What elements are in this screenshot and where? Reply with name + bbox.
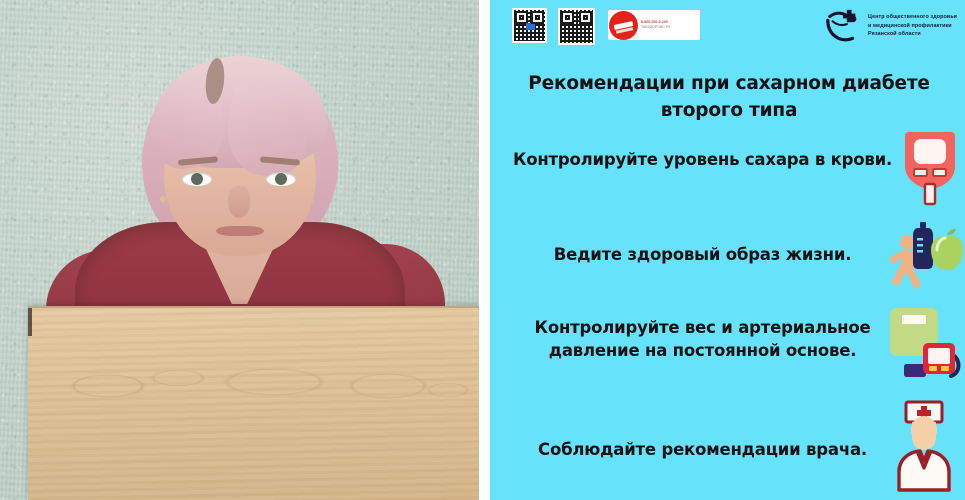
poster-header: 8-800-200-0-200 ТАКЗДОРОВО.РУ Центр обще… bbox=[490, 0, 965, 52]
nose bbox=[228, 186, 250, 218]
earring bbox=[160, 196, 166, 202]
title-line-2: второго типа bbox=[514, 97, 944, 124]
hotline-site: ТАКЗДОРОВО.РУ bbox=[641, 25, 670, 30]
hotline-badge[interactable]: 8-800-200-0-200 ТАКЗДОРОВО.РУ bbox=[608, 10, 700, 40]
mouth bbox=[216, 226, 264, 236]
doctor-icon bbox=[885, 398, 963, 494]
pupil-left bbox=[191, 173, 203, 185]
scale-and-blood-pressure-icon bbox=[887, 302, 963, 384]
wooden-board bbox=[28, 306, 479, 500]
page-title: Рекомендации при сахарном диабете второг… bbox=[514, 70, 944, 124]
pupil-right bbox=[275, 173, 287, 185]
healthy-lifestyle-icon bbox=[887, 212, 963, 292]
org-line-2: и медицинской профилактики bbox=[868, 22, 957, 31]
board-corner-shadow bbox=[28, 308, 32, 336]
health-center-logo-icon bbox=[824, 7, 862, 45]
diabetes-recommendations-poster: 8-800-200-0-200 ТАКЗДОРОВО.РУ Центр обще… bbox=[490, 0, 965, 500]
recommendation-4-text: Соблюдайте рекомендации врача. bbox=[510, 438, 895, 461]
screenshot-stage: 8-800-200-0-200 ТАКЗДОРОВО.РУ Центр обще… bbox=[0, 0, 965, 500]
qr-code-1[interactable] bbox=[512, 8, 547, 43]
title-line-1: Рекомендации при сахарном диабете bbox=[514, 70, 944, 97]
org-line-1: Центр общественного здоровья bbox=[868, 13, 957, 22]
recommendation-1-text: Контролируйте уровень сахара в крови. bbox=[510, 148, 895, 171]
qr-code-2[interactable] bbox=[558, 8, 595, 45]
stop-sign-icon bbox=[609, 11, 638, 40]
org-line-3: Рязанской области bbox=[868, 30, 957, 39]
medical-worker-photo bbox=[0, 0, 479, 500]
glucometer-icon bbox=[897, 128, 963, 206]
hotline-text: 8-800-200-0-200 ТАКЗДОРОВО.РУ bbox=[641, 20, 670, 29]
recommendation-2-text: Ведите здоровый образ жизни. bbox=[510, 243, 895, 266]
recommendation-3-line-1: Контролируйте вес и артериальное bbox=[510, 316, 895, 339]
recommendation-3-text: Контролируйте вес и артериальное давлени… bbox=[510, 316, 895, 363]
organization-logo: Центр общественного здоровья и медицинск… bbox=[824, 6, 957, 46]
recommendation-3-line-2: давление на постоянной основе. bbox=[510, 339, 895, 362]
wood-grain bbox=[28, 308, 479, 500]
organization-name: Центр общественного здоровья и медицинск… bbox=[868, 13, 957, 39]
